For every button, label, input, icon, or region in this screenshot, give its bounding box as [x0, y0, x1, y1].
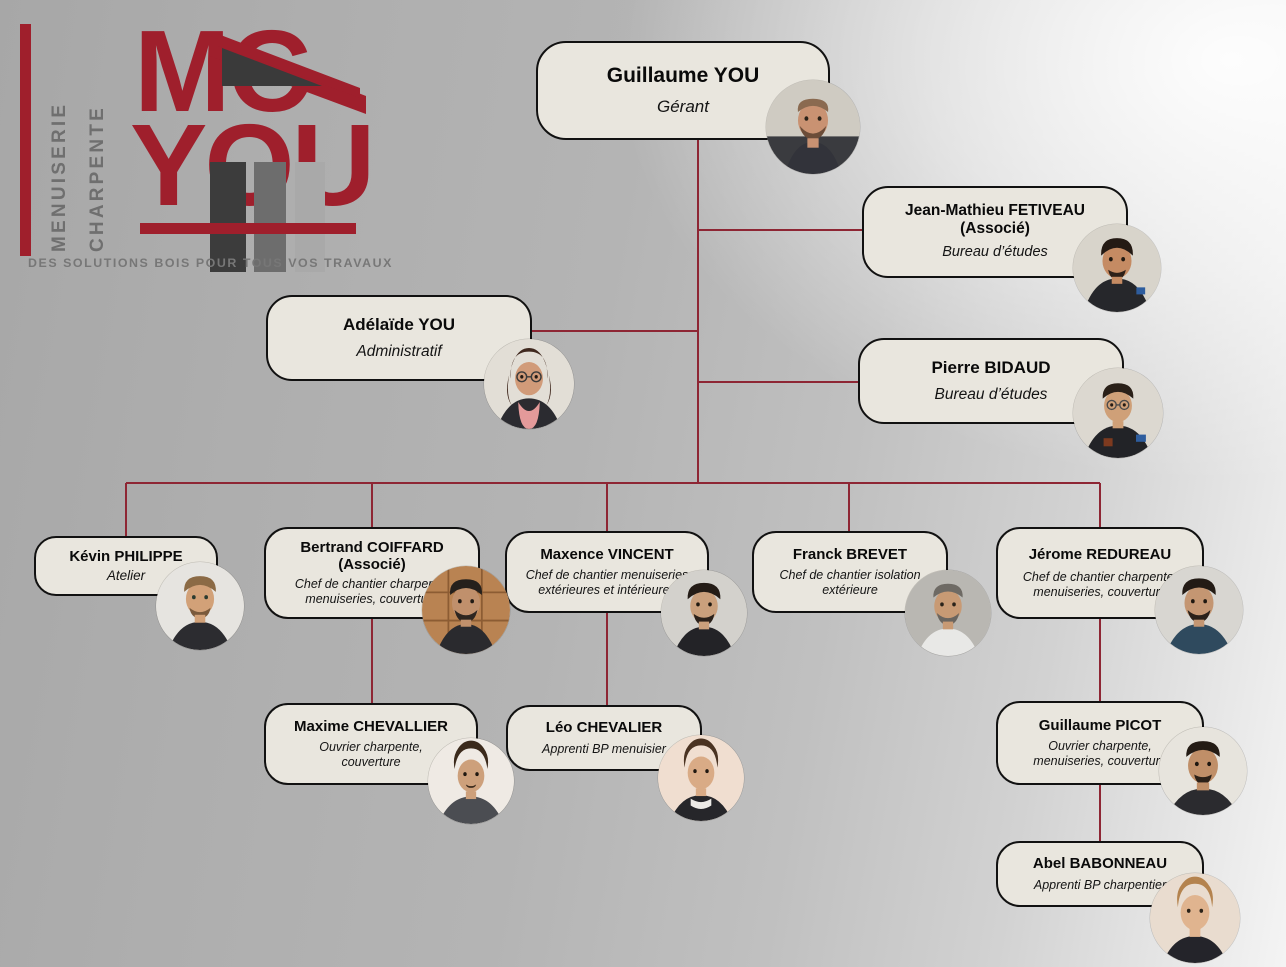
avatar-pierre-bidaud	[1073, 368, 1163, 458]
person-role: Gérant	[657, 97, 709, 117]
avatar-maxime-chevallier	[428, 738, 514, 824]
person-role: Atelier	[107, 568, 145, 584]
person-name: Maxence VINCENT	[540, 546, 673, 563]
person-name: Abel BABONNEAU	[1033, 855, 1167, 872]
person-role: Ouvrier charpente,	[319, 740, 423, 755]
person-name: Guillaume PICOT	[1039, 717, 1162, 734]
person-name: Jean-Mathieu FETIVEAU	[905, 202, 1085, 220]
avatar-jean-mathieu-fetiveau	[1073, 224, 1161, 312]
person-name: Franck BREVET	[793, 546, 907, 563]
person-name: Bertrand COIFFARD	[300, 539, 443, 556]
person-name: Pierre BIDAUD	[931, 358, 1050, 377]
person-name: Guillaume YOU	[607, 64, 760, 88]
person-role: Ouvrier charpente,	[1048, 739, 1152, 754]
avatar-leo-chevalier	[658, 735, 744, 821]
person-role: Bureau d’études	[942, 244, 1048, 261]
avatar-bertrand-coiffard	[422, 566, 510, 654]
person-role: Administratif	[356, 343, 441, 362]
person-name-suffix: (Associé)	[338, 556, 406, 573]
avatar-guillaume-you	[766, 80, 860, 174]
person-role-line2: menuiseries, couverture	[305, 592, 438, 607]
person-role: Apprenti BP charpentier	[1034, 878, 1166, 893]
person-role-line2: extérieure	[822, 583, 878, 598]
person-role: Apprenti BP menuisier	[542, 742, 666, 757]
person-role-line2: extérieures et intérieures	[538, 583, 676, 598]
person-name: Kévin PHILIPPE	[69, 548, 182, 565]
person-name-suffix: (Associé)	[960, 220, 1030, 238]
org-chart-canvas: MENUISERIE CHARPENTE MC YOU DES SOLUTION…	[0, 0, 1286, 967]
avatar-jerome-redureau	[1155, 566, 1243, 654]
person-role: Chef de chantier isolation	[779, 568, 920, 583]
avatar-adelaide-you	[484, 339, 574, 429]
person-role-line2: menuiseries, couverture	[1033, 754, 1166, 769]
person-role: Chef de chantier menuiseries	[526, 568, 689, 583]
person-name: Adélaïde YOU	[343, 315, 455, 334]
avatar-franck-brevet	[905, 570, 991, 656]
person-role-line2: couverture	[341, 755, 400, 770]
person-role-line2: menuiseries, couverture	[1033, 585, 1166, 600]
connector-lines	[0, 0, 1286, 967]
person-name: Jérome REDUREAU	[1029, 546, 1172, 563]
person-role: Bureau d’études	[935, 386, 1048, 405]
person-name: Léo CHEVALIER	[546, 719, 662, 736]
person-name: Maxime CHEVALLIER	[294, 718, 448, 735]
avatar-abel-babonneau	[1150, 873, 1240, 963]
avatar-guillaume-picot	[1159, 727, 1247, 815]
person-role: Chef de chantier charpente,	[1023, 570, 1177, 585]
avatar-maxence-vincent	[661, 570, 747, 656]
avatar-kevin-philippe	[156, 562, 244, 650]
